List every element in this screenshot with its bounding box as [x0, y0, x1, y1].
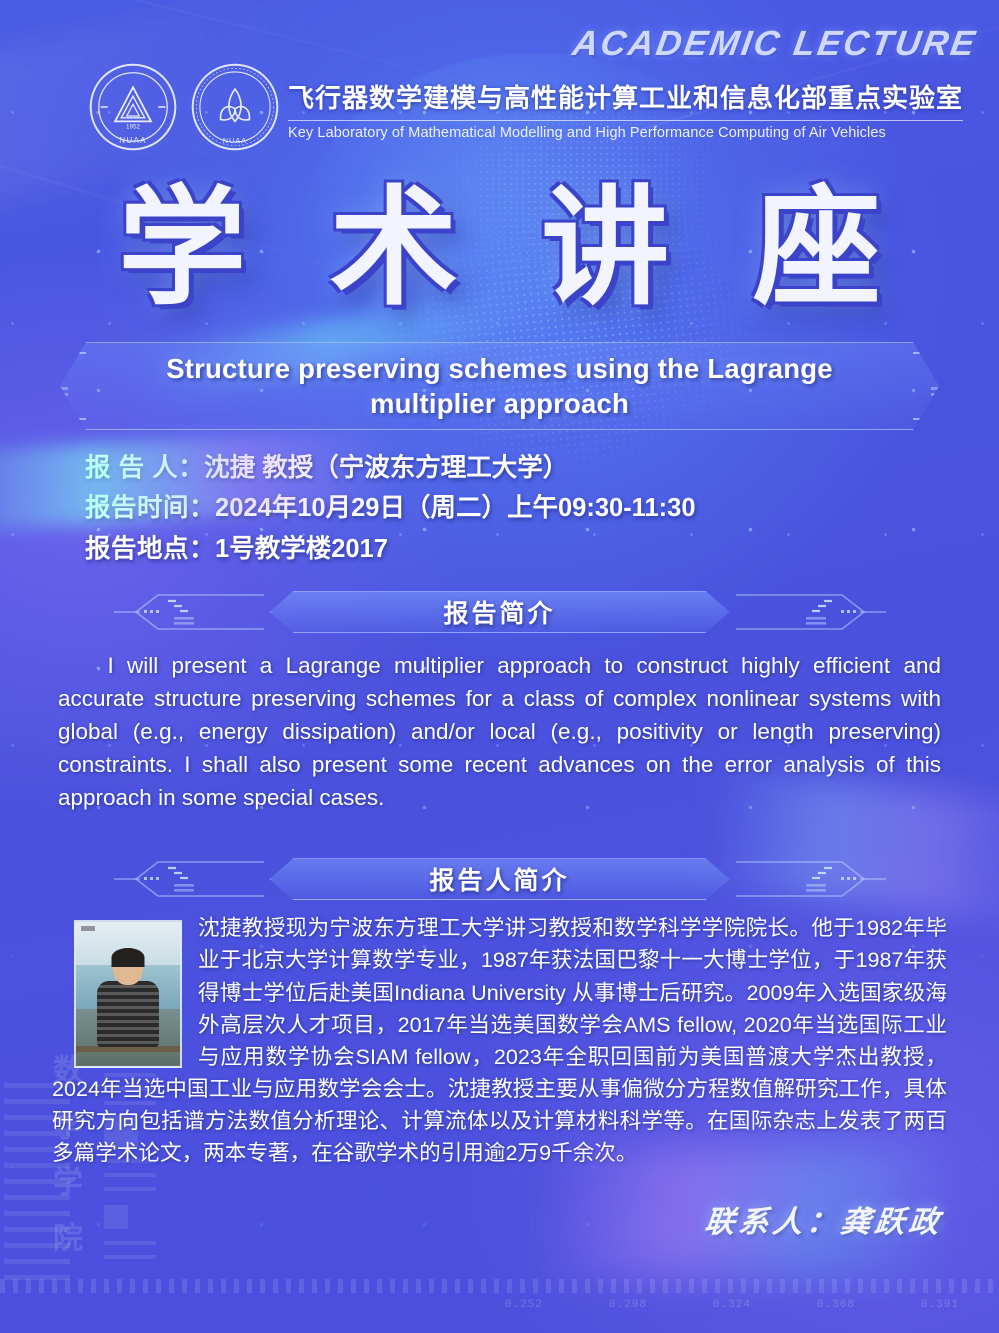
- bottom-number-decor: 0.252 0.298 0.324 0.368 0.391: [0, 1299, 999, 1323]
- tech-wing-right-icon: [736, 860, 886, 898]
- nuaa-university-seal-logo: 1952 NUAA: [88, 62, 178, 152]
- svg-text:NUAA: NUAA: [119, 136, 146, 145]
- logo-group: 1952 NUAA NUAA: [88, 62, 280, 152]
- time-line: 报告时间：2024年10月29日（周二）上午09:30-11:30: [85, 488, 999, 528]
- speaker-value: 沈捷 教授（宁波东方理工大学）: [204, 454, 568, 482]
- bio-heading: 报告人简介: [429, 861, 569, 897]
- tech-bracket-right-icon: [913, 351, 997, 421]
- bottom-number: 0.368: [817, 1299, 855, 1323]
- bottom-number: 0.324: [713, 1299, 751, 1323]
- lecture-poster: 数学学院 0.252 0.298 0.324 0.368 0.391 ACADE…: [0, 0, 999, 1333]
- abstract-text: I will present a Lagrange multiplier app…: [58, 653, 941, 810]
- venue-label: 报告地点：: [85, 535, 215, 563]
- time-value: 2024年10月29日（周二）上午09:30-11:30: [215, 494, 695, 522]
- abstract-section-header: 报告简介: [120, 591, 880, 633]
- speaker-line: 报 告 人：沈捷 教授（宁波东方理工大学）: [85, 448, 999, 488]
- bottom-number: 0.298: [609, 1299, 647, 1323]
- photo-person-hair: [112, 948, 145, 967]
- nuaa-lab-emblem-logo: NUAA: [190, 62, 280, 152]
- lab-name-block: 飞行器数学建模与高性能计算工业和信息化部重点实验室 Key Laboratory…: [288, 78, 963, 141]
- speaker-label: 报 告 人：: [85, 454, 204, 482]
- time-label: 报告时间：: [85, 494, 215, 522]
- bottom-number: 0.252: [505, 1299, 543, 1323]
- bio-body: 沈捷教授现为宁波东方理工大学讲习教授和数学科学学院院长。他于1982年毕业于北京…: [52, 912, 947, 1169]
- photo-corner-tab: [81, 926, 95, 931]
- speaker-portrait-photo: [74, 920, 182, 1068]
- lab-name-en: Key Laboratory of Mathematical Modelling…: [288, 125, 963, 141]
- main-title: 学 术 讲 座: [0, 174, 999, 324]
- talk-info-block: 报 告 人：沈捷 教授（宁波东方理工大学） 报告时间：2024年10月29日（周…: [85, 448, 999, 569]
- talk-title-banner: Structure preserving schemes using the L…: [60, 342, 939, 430]
- tech-wing-left-icon: [114, 593, 264, 631]
- lab-divider: [288, 120, 963, 121]
- venue-value: 1号教学楼2017: [215, 535, 388, 563]
- svg-text:1952: 1952: [126, 124, 141, 131]
- barcode-strip-decor: [0, 1279, 999, 1293]
- talk-title-en: Structure preserving schemes using the L…: [60, 351, 939, 421]
- academic-lecture-label: ACADEMIC LECTURE: [570, 24, 980, 64]
- svg-text:NUAA: NUAA: [223, 136, 247, 145]
- bio-text: 沈捷教授现为宁波东方理工大学讲习教授和数学科学学院院长。他于1982年毕业于北京…: [52, 915, 947, 1165]
- abstract-body: I will present a Lagrange multiplier app…: [58, 649, 941, 814]
- tech-bracket-left-icon: [2, 351, 86, 421]
- photo-person-body: [97, 981, 159, 1047]
- venue-line: 报告地点：1号教学楼2017: [85, 529, 999, 569]
- lab-name-cn: 飞行器数学建模与高性能计算工业和信息化部重点实验室: [288, 78, 963, 115]
- tech-wing-left-icon: [114, 860, 264, 898]
- abstract-heading: 报告简介: [443, 594, 555, 630]
- tech-wing-right-icon: [736, 593, 886, 631]
- contact-person: 联系人：龚跃政: [703, 1197, 946, 1241]
- bio-section-header: 报告人简介: [120, 858, 880, 900]
- poster-header: ACADEMIC LECTURE 1952 NUAA NUAA: [0, 0, 999, 158]
- bottom-number: 0.391: [921, 1299, 959, 1323]
